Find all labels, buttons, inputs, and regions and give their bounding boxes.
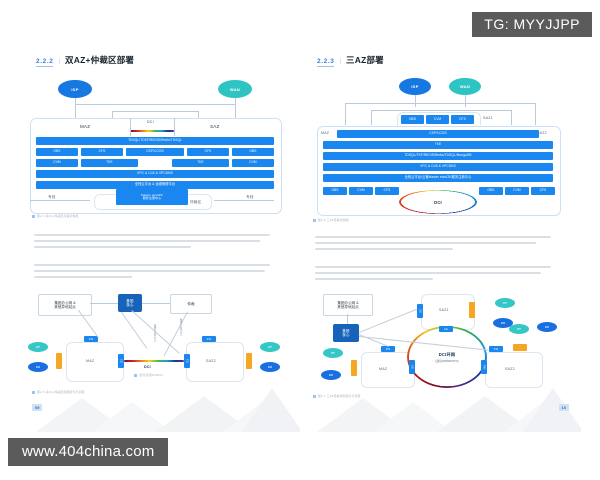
cloud-wan-right: WAN bbox=[449, 78, 481, 95]
chip-edge-left bbox=[56, 353, 62, 369]
stack-cell: VPC & CLB & VPCDNS bbox=[36, 170, 274, 178]
chip-ce-saz2: FW bbox=[481, 360, 487, 374]
document-page-right: 2.2.3 | 三AZ部署 ISP WAN OBS CVM CFS SAZ1 M… bbox=[303, 42, 581, 432]
chip-ce-ring-top: CE bbox=[439, 326, 453, 332]
page-number-right: 10 bbox=[559, 404, 569, 411]
zone-label-maz-right: MAZ bbox=[321, 131, 329, 135]
zone-label-maz: MAZ bbox=[80, 124, 90, 129]
label-dedicated-line-left: 专线 bbox=[48, 195, 56, 200]
section-divider: | bbox=[339, 59, 341, 65]
stack-cell: CSP/CCOS bbox=[337, 130, 539, 138]
cloud-isp-right: ISP bbox=[399, 78, 431, 95]
document-page-left: 2.2.2 | 双AZ+仲裁区部署 ISP WAN MAZ SAZ DCI TD… bbox=[22, 42, 300, 432]
cloud-label: WAN bbox=[230, 87, 240, 92]
stack-cell: TDSQL/TDSF/REDIS/Redis/TDSQL bbox=[36, 137, 274, 145]
cloud-ct-left-1: CT bbox=[28, 342, 48, 352]
dci-ring-label: DCI环网 bbox=[439, 352, 456, 358]
stack-cell: TKE bbox=[172, 159, 229, 167]
dci-sublabel-bottom: (建议使用DWDM) bbox=[134, 373, 163, 377]
stack-cell: CFS bbox=[531, 187, 555, 195]
page-number-left: 09 bbox=[32, 404, 42, 411]
connector bbox=[130, 118, 131, 136]
az-label-maz-bottom: MAZ bbox=[379, 367, 387, 371]
connector bbox=[347, 314, 348, 324]
chip-edge-saz1 bbox=[469, 302, 475, 318]
dci-ring-sublabel: (建议DWDM/OTN) bbox=[435, 359, 458, 363]
dci-ring-bottom-right: DCI环网 (建议DWDM/OTN) bbox=[407, 326, 487, 388]
az-box-maz-left bbox=[66, 342, 124, 382]
connector bbox=[345, 103, 346, 125]
cloud-ct-right-1: CT bbox=[260, 342, 280, 352]
diag-label-2: 专线 / 万兆以上 bbox=[178, 318, 182, 336]
cloud-cu-saz2: CU bbox=[537, 322, 557, 332]
connector bbox=[235, 98, 236, 118]
stack-cell: TKE bbox=[323, 141, 553, 149]
connector bbox=[75, 104, 235, 105]
label-arbiter-zone: 仲裁区 bbox=[190, 200, 201, 205]
connector bbox=[30, 200, 90, 201]
cloud-cu-maz: CU bbox=[321, 370, 341, 380]
stack-cell: 全栈云平台/云管Master etcd/ZK服务注册中心 bbox=[323, 174, 553, 182]
stack-cell: OBS bbox=[323, 187, 347, 195]
stack-cell: TDSQL/TSF/REDIS/Redis/TDSQL/MongoDB bbox=[323, 152, 553, 160]
paragraph-block-2 bbox=[315, 266, 561, 285]
cloud-ct-maz: CT bbox=[323, 348, 343, 358]
zone-label-saz: SAZ bbox=[210, 124, 220, 129]
figure-caption-bottom-right: 图2-7 三AZ部署组网拓扑示意图 bbox=[313, 394, 361, 398]
diag-label-1: 专线 / 万兆以上 bbox=[152, 324, 156, 342]
stack-cell: CSP/CCOS bbox=[126, 148, 184, 156]
paragraph-block-1 bbox=[34, 234, 280, 253]
connector bbox=[214, 200, 274, 201]
connector bbox=[511, 110, 512, 125]
node-office-network-left: 集团办公网 & 其他异地站点 bbox=[38, 294, 92, 316]
stack-cell: CFS bbox=[81, 148, 123, 156]
node-core-left: 集团 核心 bbox=[118, 294, 142, 312]
figure-caption-top-right: 图2-6 三AZ部署架构图 bbox=[313, 218, 349, 222]
dci-link-label: DCI bbox=[147, 120, 154, 124]
cloud-cu-left-1: CU bbox=[28, 362, 48, 372]
node-arbiter-left: 仲裁 bbox=[170, 294, 212, 314]
az-label-maz: MAZ bbox=[86, 359, 94, 363]
connector bbox=[415, 95, 416, 107]
connector bbox=[345, 103, 535, 104]
node-core-right: 集团 核心 bbox=[333, 324, 359, 342]
connector bbox=[112, 111, 198, 112]
cloud-ct-saz2: CT bbox=[509, 324, 529, 334]
chip-fw-left: FW bbox=[84, 336, 98, 342]
connector bbox=[174, 118, 175, 136]
stack-cell: CFS bbox=[375, 187, 399, 195]
az-label-saz2-bottom: SAZ2 bbox=[505, 367, 515, 371]
node-label: 集团办公网 & 其他异地站点 bbox=[337, 301, 359, 310]
chip-ce-saz1: CE bbox=[417, 304, 423, 318]
az-label-saz2: SAZ2 bbox=[206, 359, 216, 363]
label-dedicated-line-right: 专线 bbox=[246, 195, 254, 200]
section-number: 2.2.3 bbox=[317, 58, 334, 67]
zone-label-saz1: SAZ1 bbox=[483, 116, 493, 120]
section-heading-right: 2.2.3 | 三AZ部署 bbox=[317, 54, 384, 67]
connector bbox=[142, 303, 170, 304]
stack-cell: VPC & CLB & VPCDNS bbox=[323, 163, 553, 171]
chip-fw-right: FW bbox=[202, 336, 216, 342]
cloud-wan-left: WAN bbox=[218, 80, 252, 98]
figure-caption-top-left: 图2-4 双AZ+仲裁区部署架构图 bbox=[32, 214, 78, 218]
cloud-label: WAN bbox=[460, 84, 470, 89]
cloud-isp-left: ISP bbox=[58, 80, 92, 98]
watermark-top-right: TG: MYYJJPP bbox=[472, 12, 592, 37]
arbiter-box: Master etcd/ZK 服务注册中心 bbox=[116, 189, 188, 205]
dci-ring-text: DCI环网 (建议DWDM/OTN) bbox=[407, 326, 487, 388]
section-heading-left: 2.2.2 | 双AZ+仲裁区部署 bbox=[36, 54, 134, 67]
stack-cell: CVM bbox=[36, 159, 78, 167]
paragraph-block-2 bbox=[34, 264, 280, 283]
node-label: 集团办公网 & 其他异地站点 bbox=[54, 301, 76, 310]
connector bbox=[75, 98, 76, 118]
screenshot-root: TG: MYYJJPP 2.2.2 | 双AZ+仲裁区部署 ISP WAN MA… bbox=[0, 0, 600, 480]
stack-cell: TKE bbox=[81, 159, 138, 167]
az-label-saz1-bottom: SAZ1 bbox=[439, 308, 449, 312]
stack-cell: CFS bbox=[187, 148, 229, 156]
page-decoration-left bbox=[22, 370, 300, 432]
dci-label-bottom: DCI bbox=[144, 365, 151, 369]
stack-cell: CFS bbox=[451, 115, 474, 124]
paragraph-block-1 bbox=[315, 236, 561, 255]
page-title: 双AZ+仲裁区部署 bbox=[65, 54, 134, 66]
stack-cell: CVM bbox=[232, 159, 274, 167]
stack-cell: OBS bbox=[401, 115, 424, 124]
chip-edge-maz bbox=[351, 360, 357, 376]
chip-edge-right bbox=[246, 353, 252, 369]
node-label: 仲裁 bbox=[187, 302, 194, 306]
dci-rainbow-bar-bottom bbox=[124, 360, 184, 362]
connector bbox=[371, 110, 511, 111]
connector bbox=[465, 95, 466, 107]
watermark-bottom-left: www.404china.com bbox=[8, 438, 168, 466]
section-number: 2.2.2 bbox=[36, 58, 53, 67]
dci-ring-label: DCI bbox=[434, 200, 442, 205]
chip-ce-right: CE bbox=[184, 354, 190, 368]
cloud-ct-saz1: CT bbox=[495, 298, 515, 308]
chip-edge-saz2 bbox=[513, 344, 527, 351]
stack-cell: OBS bbox=[36, 148, 78, 156]
connector bbox=[90, 303, 118, 304]
stack-cell: CVM bbox=[426, 115, 449, 124]
figure-caption-bottom-left: 图2-5 双AZ+仲裁区组网拓扑示意图 bbox=[32, 390, 84, 394]
stack-cell: OBS bbox=[479, 187, 503, 195]
dci-ring-text: DCI bbox=[399, 190, 477, 214]
connector bbox=[535, 103, 536, 125]
page-title: 三AZ部署 bbox=[346, 54, 384, 66]
connector bbox=[371, 110, 372, 125]
section-divider: | bbox=[58, 59, 60, 65]
stack-cell: CVM bbox=[349, 187, 373, 195]
stack-cell: CVM bbox=[505, 187, 529, 195]
cloud-cu-right-1: CU bbox=[260, 362, 280, 372]
stack-cell: 全栈云平台 & 运维管理平台 bbox=[36, 181, 274, 189]
arbiter-box-label: Master etcd/ZK 服务注册中心 bbox=[141, 194, 163, 201]
node-office-network-right: 集团办公网 & 其他异地站点 bbox=[323, 294, 373, 316]
chip-fw-saz2: FW bbox=[489, 346, 503, 352]
dci-rainbow-bar bbox=[130, 130, 174, 132]
cloud-label: ISP bbox=[411, 84, 418, 89]
dci-ring-top-right: DCI bbox=[399, 190, 477, 214]
connector-diagonal bbox=[121, 312, 147, 349]
node-label: 集团 核心 bbox=[342, 329, 349, 338]
az-box-saz1-right bbox=[421, 294, 475, 330]
node-label: 集团 核心 bbox=[126, 299, 133, 308]
chip-ce-maz: CE bbox=[409, 360, 415, 374]
cloud-label: ISP bbox=[71, 87, 78, 92]
stack-cell: OBS bbox=[232, 148, 274, 156]
